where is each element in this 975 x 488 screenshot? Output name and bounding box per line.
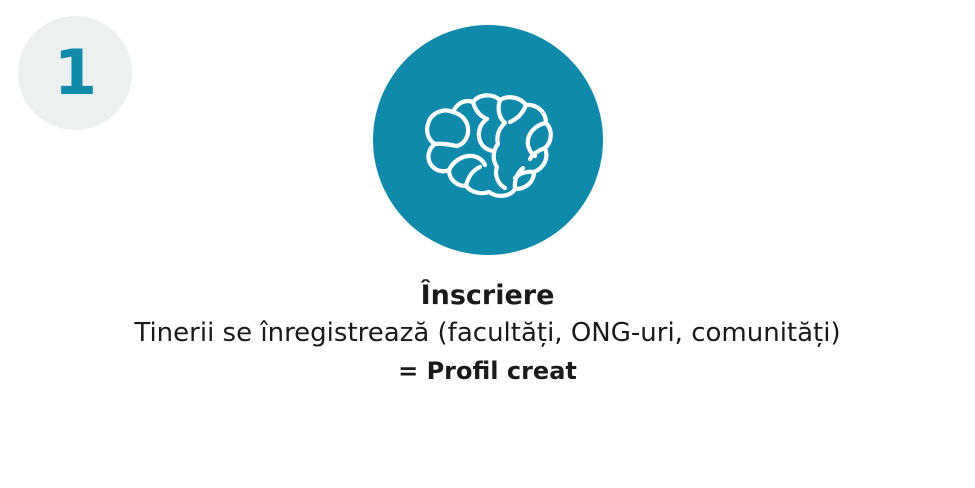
step-number-label: 1: [54, 42, 96, 104]
step-number-badge: 1: [18, 16, 132, 130]
caption-block: Înscriere Tinerii se înregistrează (facu…: [0, 278, 975, 387]
caption-result: = Profil creat: [0, 356, 975, 387]
slide-canvas: 1 Îns: [0, 0, 975, 488]
brain-icon: [413, 76, 563, 204]
icon-circle: [373, 25, 603, 255]
caption-title: Înscriere: [0, 278, 975, 313]
caption-description: Tinerii se înregistrează (facultăți, ONG…: [0, 317, 975, 351]
